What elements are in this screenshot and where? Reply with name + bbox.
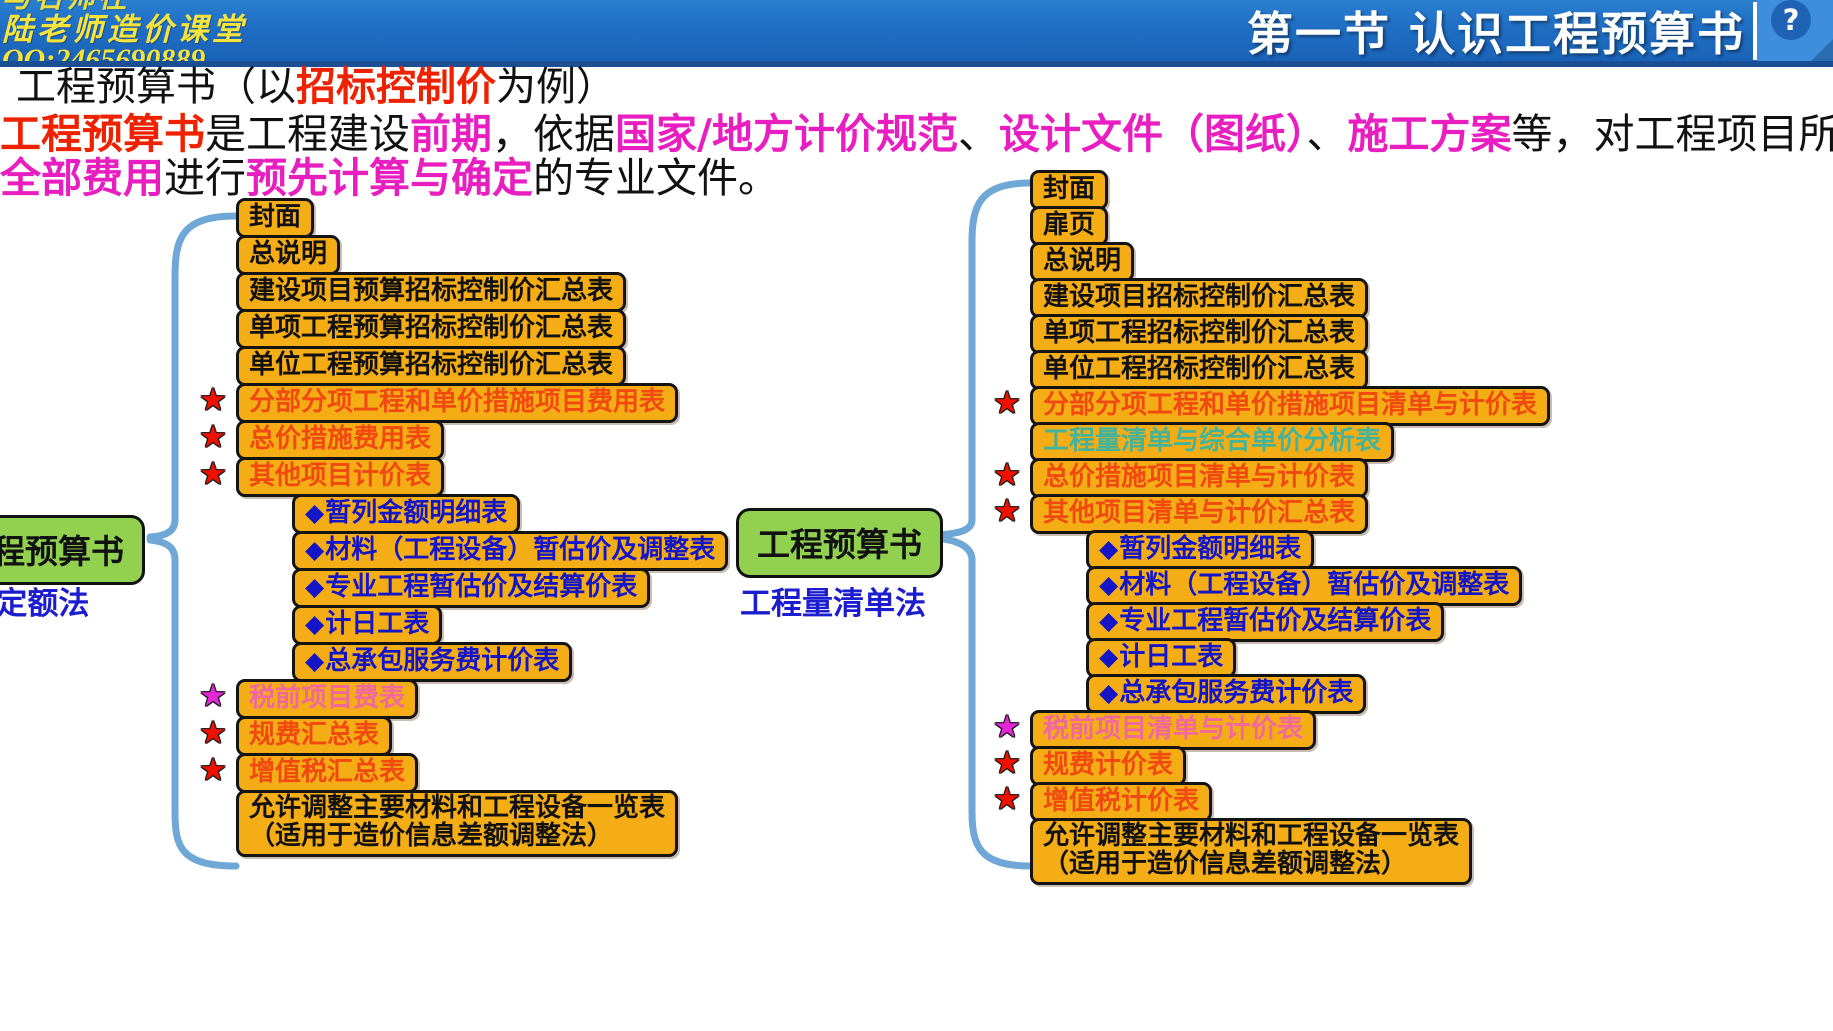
intro-segment: 国家/地方计价规范 — [615, 110, 958, 158]
tree-node[interactable]: 税前项目费表 — [236, 679, 418, 719]
intro-segment: 、 — [1306, 110, 1347, 158]
tree-node[interactable]: 封面 — [236, 198, 314, 238]
tree-node[interactable]: 允许调整主要材料和工程设备一览表（适用于造价信息差额调整法） — [1030, 818, 1472, 885]
tree-node-label: 总价措施费用表 — [249, 424, 431, 454]
tree-node[interactable]: 税前项目清单与计价表 — [1030, 710, 1316, 750]
watermark-logo: 与名师在 陆老师造价课堂 QQ:2465690889 — [2, 0, 522, 61]
tree-node[interactable]: ◆暂列金额明细表 — [1086, 530, 1314, 570]
star-red-icon: ★ — [992, 388, 1022, 418]
tree-node-label: ◆暂列金额明细表 — [305, 498, 507, 528]
tree-node-label: 单位工程招标控制价汇总表 — [1043, 354, 1355, 384]
tree-node-label: ◆材料（工程设备）暂估价及调整表 — [1099, 570, 1509, 600]
diamond-bullet-icon: ◆ — [1099, 642, 1118, 671]
left-root-subtitle: 法/定额法 — [0, 578, 89, 623]
tree-node-label: 允许调整主要材料和工程设备一览表 — [1043, 822, 1459, 850]
watermark-line-1: 与名师在 — [2, 0, 522, 14]
tree-node-label: ◆总承包服务费计价表 — [305, 646, 559, 676]
tree-node-label: ◆计日工表 — [305, 609, 429, 639]
tree-node[interactable]: 工程量清单与综合单价分析表 — [1030, 422, 1394, 462]
diamond-bullet-icon: ◆ — [1099, 678, 1118, 707]
tree-node-label: 规费计价表 — [1043, 750, 1173, 780]
tree-node-label: ◆计日工表 — [1099, 642, 1223, 672]
star-pink-icon: ★ — [198, 681, 228, 711]
tree-node[interactable]: ◆专业工程暂估价及结算价表 — [1086, 602, 1444, 642]
tree-node[interactable]: ◆暂列金额明细表 — [292, 494, 520, 534]
intro-segment: 全部费用 — [0, 154, 164, 202]
tree-node-label: 封面 — [249, 202, 301, 232]
tree-node[interactable]: 扉页 — [1030, 206, 1108, 246]
intro-segment: 施工方案 — [1347, 110, 1511, 158]
tree-node[interactable]: 总说明 — [236, 235, 340, 275]
tree-node-label: ◆总承包服务费计价表 — [1099, 678, 1353, 708]
diamond-bullet-icon: ◆ — [1099, 570, 1118, 599]
tree-node-label: 允许调整主要材料和工程设备一览表 — [249, 794, 665, 822]
tree-node-label: 扉页 — [1043, 210, 1095, 240]
tree-node-label: ◆专业工程暂估价及结算价表 — [1099, 606, 1431, 636]
tree-node[interactable]: 总价措施项目清单与计价表 — [1030, 458, 1368, 498]
tree-node-sublabel: （适用于造价信息差额调整法） — [249, 822, 665, 850]
intro-line-3: 全部费用进行预先计算与确定的专业文件。 — [0, 157, 1833, 200]
tree-node-label: 总说明 — [249, 239, 327, 269]
intro-line-1: 工程预算书（以招标控制价为例） — [0, 66, 1833, 109]
diamond-bullet-icon: ◆ — [1099, 534, 1118, 563]
intro-segment: 前期 — [410, 110, 492, 158]
tree-node-label: 增值税汇总表 — [249, 757, 405, 787]
tree-node-label: 封面 — [1043, 174, 1095, 204]
tree-node-label: 建设项目预算招标控制价汇总表 — [249, 276, 613, 306]
tree-node-label: ◆暂列金额明细表 — [1099, 534, 1301, 564]
star-red-icon: ★ — [198, 718, 228, 748]
diamond-bullet-icon: ◆ — [305, 646, 324, 675]
intro-segment: ，依据 — [492, 110, 615, 158]
watermark-line-2: 陆老师造价课堂 — [2, 14, 522, 46]
tree-node[interactable]: 增值税汇总表 — [236, 753, 418, 793]
tree-node[interactable]: ◆总承包服务费计价表 — [292, 642, 572, 682]
star-red-icon: ★ — [992, 496, 1022, 526]
tree-node[interactable]: ◆计日工表 — [292, 605, 442, 645]
left-root-node[interactable]: 工程预算书 — [0, 515, 145, 585]
intro-segment: 的专业文件。 — [533, 154, 779, 202]
tree-node[interactable]: 分部分项工程和单价措施项目清单与计价表 — [1030, 386, 1550, 426]
tree-node[interactable]: 总说明 — [1030, 242, 1134, 282]
tree-node[interactable]: 建设项目招标控制价汇总表 — [1030, 278, 1368, 318]
star-red-icon: ★ — [992, 784, 1022, 814]
tree-node[interactable]: 允许调整主要材料和工程设备一览表（适用于造价信息差额调整法） — [236, 790, 678, 857]
watermark-line-3: QQ:2465690889 — [2, 45, 522, 61]
tree-node-label: 增值税计价表 — [1043, 786, 1199, 816]
tree-node-label: 单项工程招标控制价汇总表 — [1043, 318, 1355, 348]
right-root-node[interactable]: 工程预算书 — [736, 508, 943, 578]
star-red-icon: ★ — [198, 385, 228, 415]
tree-node-label: 总价措施项目清单与计价表 — [1043, 462, 1355, 492]
intro-line-2: 工程预算书是工程建设前期，依据国家/地方计价规范、设计文件（图纸）、施工方案等，… — [0, 113, 1833, 156]
intro-segment: 招标控制价 — [296, 64, 496, 110]
intro-segment: 设计文件（图纸） — [999, 110, 1307, 158]
intro-segment: 、 — [958, 110, 999, 158]
tree-node-label: 其他项目清单与计价汇总表 — [1043, 498, 1355, 528]
tree-node[interactable]: ◆材料（工程设备）暂估价及调整表 — [1086, 566, 1522, 606]
tree-node-label: 规费汇总表 — [249, 720, 379, 750]
diamond-bullet-icon: ◆ — [305, 498, 324, 527]
tree-node-label: 单位工程预算招标控制价汇总表 — [249, 350, 613, 380]
tree-node-label: 其他项目计价表 — [249, 461, 431, 491]
star-red-icon: ★ — [198, 755, 228, 785]
tree-node[interactable]: 其他项目计价表 — [236, 457, 444, 497]
intro-segment: 工程预算书（以 — [16, 64, 296, 110]
right-root-subtitle: 工程量清单法 — [740, 578, 926, 623]
tree-node-sublabel: （适用于造价信息差额调整法） — [1043, 850, 1459, 878]
intro-segment: 是工程建设 — [205, 110, 410, 158]
tree-node[interactable]: ◆计日工表 — [1086, 638, 1236, 678]
help-badge[interactable]: ? — [1757, 0, 1833, 61]
star-red-icon: ★ — [992, 460, 1022, 490]
tree-node[interactable]: 单位工程预算招标控制价汇总表 — [236, 346, 626, 386]
tree-node[interactable]: 建设项目预算招标控制价汇总表 — [236, 272, 626, 312]
tree-node[interactable]: 规费汇总表 — [236, 716, 392, 756]
tree-node-label: 工程量清单与综合单价分析表 — [1043, 426, 1381, 456]
tree-node[interactable]: 单项工程预算招标控制价汇总表 — [236, 309, 626, 349]
tree-node[interactable]: 规费计价表 — [1030, 746, 1186, 786]
diamond-bullet-icon: ◆ — [305, 535, 324, 564]
tree-node[interactable]: 增值税计价表 — [1030, 782, 1212, 822]
tree-node[interactable]: 封面 — [1030, 170, 1108, 210]
diamond-bullet-icon: ◆ — [305, 572, 324, 601]
tree-node[interactable]: ◆材料（工程设备）暂估价及调整表 — [292, 531, 728, 571]
tree-node[interactable]: 分部分项工程和单价措施项目费用表 — [236, 383, 678, 423]
tree-node-label: 税前项目清单与计价表 — [1043, 714, 1303, 744]
intro-segment: 进行 — [164, 154, 246, 202]
tree-node-label: 建设项目招标控制价汇总表 — [1043, 282, 1355, 312]
tree-node[interactable]: 单项工程招标控制价汇总表 — [1030, 314, 1368, 354]
tree-node[interactable]: ◆专业工程暂估价及结算价表 — [292, 568, 650, 608]
star-red-icon: ★ — [198, 459, 228, 489]
tree-node[interactable]: 总价措施费用表 — [236, 420, 444, 460]
intro-segment: 为例） — [496, 64, 616, 110]
star-red-icon: ★ — [992, 748, 1022, 778]
star-pink-icon: ★ — [992, 712, 1022, 742]
tree-node-label: 分部分项工程和单价措施项目费用表 — [249, 387, 665, 417]
diamond-bullet-icon: ◆ — [305, 609, 324, 638]
intro-segment: 等，对工程项目所 — [1511, 110, 1833, 158]
tree-node[interactable]: 单位工程招标控制价汇总表 — [1030, 350, 1368, 390]
tree-node-label: ◆专业工程暂估价及结算价表 — [305, 572, 637, 602]
star-red-icon: ★ — [198, 422, 228, 452]
tree-node-label: 分部分项工程和单价措施项目清单与计价表 — [1043, 390, 1537, 420]
help-question-icon[interactable]: ? — [1771, 0, 1811, 40]
slide-header-bar: 与名师在 陆老师造价课堂 QQ:2465690889 第一节 认识工程预算书 ? — [0, 0, 1833, 61]
page-title: 第一节 认识工程预算书 — [1247, 0, 1745, 61]
intro-segment: 工程预算书 — [0, 110, 205, 158]
tree-node-label: 税前项目费表 — [249, 683, 405, 713]
tree-node[interactable]: 其他项目清单与计价汇总表 — [1030, 494, 1368, 534]
intro-segment: 预先计算与确定 — [246, 154, 533, 202]
intro-paragraph: 工程预算书（以招标控制价为例） 工程预算书是工程建设前期，依据国家/地方计价规范… — [0, 66, 1833, 200]
tree-node-label: 总说明 — [1043, 246, 1121, 276]
diamond-bullet-icon: ◆ — [1099, 606, 1118, 635]
tree-node[interactable]: ◆总承包服务费计价表 — [1086, 674, 1366, 714]
tree-node-label: ◆材料（工程设备）暂估价及调整表 — [305, 535, 715, 565]
tree-node-label: 单项工程预算招标控制价汇总表 — [249, 313, 613, 343]
